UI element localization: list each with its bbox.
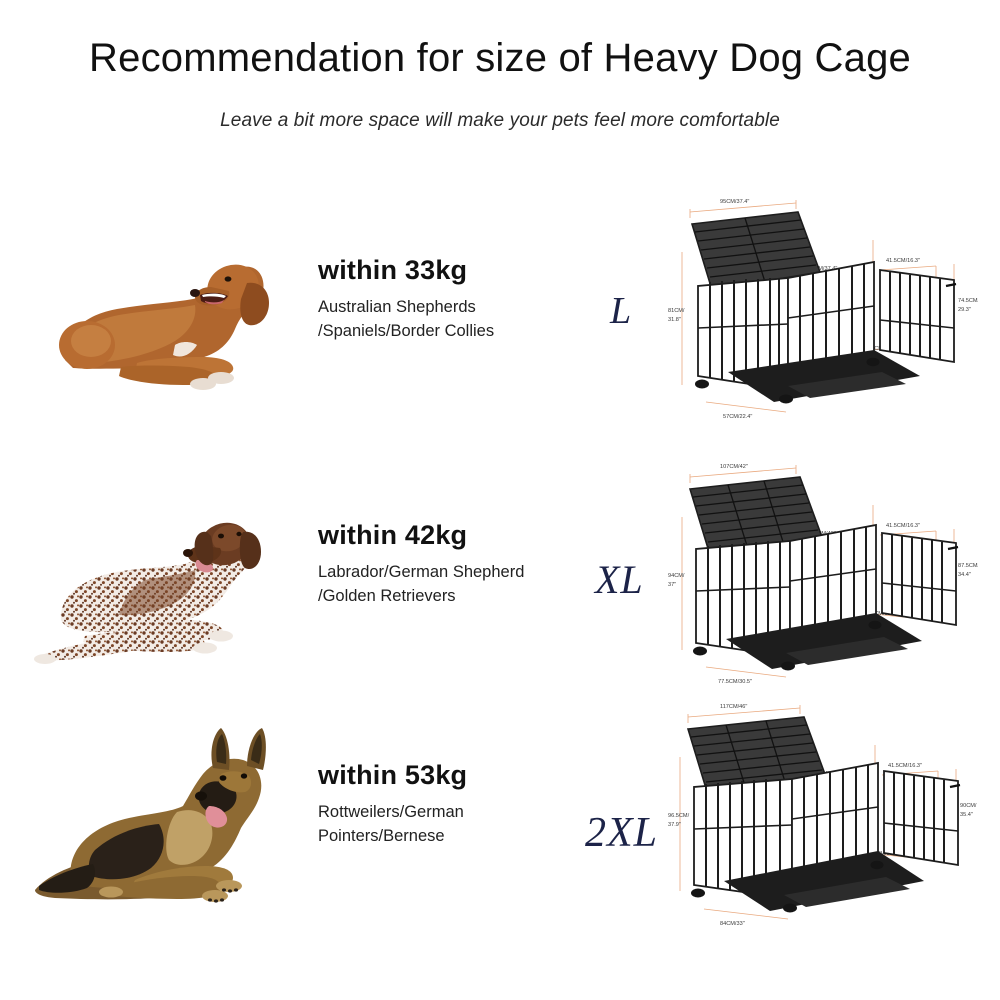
dim-left-height-1: 96.5CM/ [668, 813, 690, 819]
size-text-block-2xl: within 53kg Rottweilers/German Pointers/… [318, 760, 588, 849]
dog-photo-brown-hound [25, 195, 300, 435]
cage-door [882, 533, 958, 625]
cage-door [880, 270, 956, 362]
cage-diagram-l: 95CM/37.4" 95CM/37.4" 41.5CM/16.3" 81CM/… [668, 190, 978, 440]
breed-list: Labrador/German Shepherd /Golden Retriev… [318, 561, 588, 609]
size-row-2xl: within 53kg Rottweilers/German Pointers/… [0, 700, 1000, 950]
dim-lid-width: 107CM/42" [720, 464, 748, 470]
size-row-xl: within 42kg Labrador/German Shepherd /Go… [0, 460, 1000, 710]
weight-label: within 53kg [318, 760, 588, 791]
dim-left-height-1: 94CM/ [668, 573, 685, 579]
dim-lid-width: 95CM/37.4" [720, 199, 749, 205]
dim-body-depth: 41.5CM/16.3" [888, 763, 922, 769]
dim-right-height-1: 90CM/ [960, 803, 977, 809]
breed-line-1: Australian Shepherds [318, 296, 588, 320]
breed-line-2: /Golden Retrievers [318, 585, 588, 609]
dim-left-height-1: 81CM/ [668, 308, 685, 314]
dim-body-depth: 41.5CM/16.3" [886, 523, 920, 529]
dim-base-width: 77.5CM/30.5" [718, 679, 752, 685]
cage-door [884, 771, 960, 865]
size-code-xl: XL [595, 560, 644, 600]
weight-label: within 42kg [318, 520, 588, 551]
breed-line-1: Labrador/German Shepherd [318, 561, 588, 585]
dim-left-height-2: 31.8" [668, 317, 681, 323]
dim-body-depth: 41.5CM/16.3" [886, 258, 920, 264]
dim-right-height-1: 87.5CM/ [958, 563, 978, 569]
dim-right-height-2: 29.3" [958, 307, 971, 313]
cage-diagram-xl: 107CM/42" 107CM/42" 41.5CM/16.3" 94CM/ 3… [668, 455, 978, 705]
page-subtitle: Leave a bit more space will make your pe… [0, 110, 1000, 132]
size-code-l: L [610, 292, 632, 330]
dim-left-height-2: 37" [668, 582, 676, 588]
breed-list: Australian Shepherds /Spaniels/Border Co… [318, 296, 588, 344]
breed-line-2: /Spaniels/Border Collies [318, 320, 588, 344]
dim-base-width: 84CM/33" [720, 921, 745, 927]
cage-diagram-2xl: 117CM/46" 117CM/46" 41.5CM/16.3" 96.5CM/… [668, 695, 978, 945]
page-title: Recommendation for size of Heavy Dog Cag… [0, 36, 1000, 81]
breed-line-2: Pointers/Bernese [318, 825, 588, 849]
size-text-block-xl: within 42kg Labrador/German Shepherd /Go… [318, 520, 588, 609]
weight-label: within 33kg [318, 255, 588, 286]
dim-base-width: 57CM/22.4" [723, 414, 752, 420]
dim-lid-width: 117CM/46" [720, 704, 747, 710]
breed-line-1: Rottweilers/German [318, 801, 588, 825]
dim-right-height-2: 34.4" [958, 572, 971, 578]
size-row-l: within 33kg Australian Shepherds /Spanie… [0, 195, 1000, 445]
infographic-page: Recommendation for size of Heavy Dog Cag… [0, 0, 1000, 1000]
dim-left-height-2: 37.9" [668, 822, 681, 828]
size-code-2xl: 2XL [585, 812, 658, 854]
dim-right-height-1: 74.5CM/ [958, 298, 978, 304]
breed-list: Rottweilers/German Pointers/Bernese [318, 801, 588, 849]
dog-photo-pointer [25, 460, 300, 700]
size-text-block-l: within 33kg Australian Shepherds /Spanie… [318, 255, 588, 344]
dim-right-height-2: 35.4" [960, 812, 973, 818]
dog-photo-german-shepherd [25, 700, 300, 940]
